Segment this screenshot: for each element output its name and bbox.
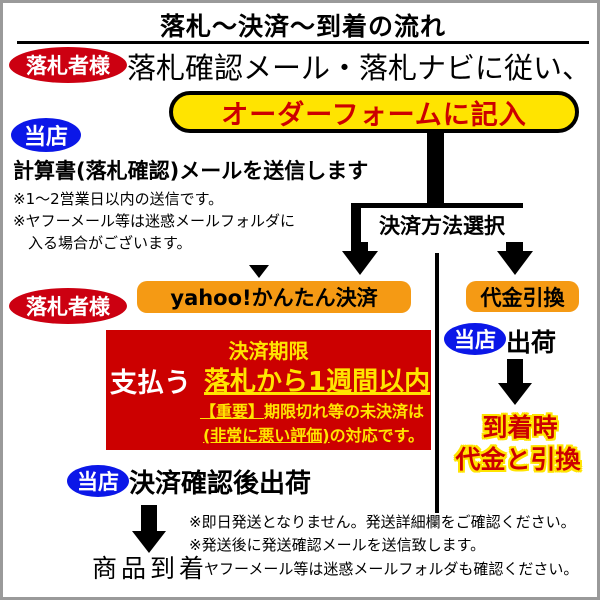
- bottom-notes-list: ※即日発送となりません。発送詳細欄をご確認ください。 ※発送後に発送確認メールを…: [189, 511, 600, 581]
- arrow-down-icon-to-cod-arrival: [498, 383, 532, 405]
- payment-method-select-label: 決済方法選択: [361, 208, 523, 242]
- bad-rating-text: (非常に悪い評価): [203, 426, 330, 445]
- confirm-and-ship-label: 決済確認後出荷: [129, 463, 311, 500]
- badge-shop-step2: 当店: [11, 118, 81, 152]
- option-yahoo-easy-payment[interactable]: yahoo!かんたん決済: [137, 281, 411, 313]
- page-title: 落札～決済～到着の流れ: [3, 7, 600, 43]
- payment-pay-label: 支払う: [110, 361, 191, 400]
- payment-deadline-panel: 決済期限 支払う 落札から1週間以内 【重要】期限切れ等の未決済は (非常に悪い…: [106, 330, 431, 450]
- bottom-note-2: ※発送後に発送確認メールを送信致します。: [189, 534, 600, 557]
- shop-invoice-mail-text: 計算書(落札確認)メールを送信します: [13, 155, 363, 185]
- payment-important-note-line2: (非常に悪い評価)の対応です。: [106, 422, 424, 446]
- arrow-down-icon-right-branch: [497, 251, 533, 275]
- bottom-note-3: ヤフーメール等は迷惑メールフォルダも確認ください。: [189, 558, 600, 581]
- connector-stem-shipping: [507, 359, 523, 385]
- payment-deadline-heading: 決済期限: [106, 335, 431, 364]
- shop-notes-list: ※1～2営業日以内の送信です。 ※ヤフーメール等は迷惑メールフォルダに 入る場合…: [13, 189, 363, 254]
- shop-note-3: 入る場合がございます。: [13, 233, 363, 255]
- cod-arrive-line1: 到着時: [440, 408, 600, 444]
- title-divider-rule: [17, 41, 589, 44]
- connector-stem-arrival: [141, 505, 157, 533]
- shipping-label: 出荷: [506, 323, 556, 359]
- arrow-down-icon-left-branch: [342, 251, 378, 275]
- badge-bidder-payment: 落札者様: [9, 288, 127, 324]
- important-text: 期限切れ等の未決済は: [264, 402, 424, 421]
- bidder-instruction-text: 落札確認メール・落札ナビに従い、: [127, 45, 600, 87]
- shop-note-1: ※1～2営業日以内の送信です。: [13, 189, 363, 211]
- shop-note-2: ※ヤフーメール等は迷惑メールフォルダに: [13, 211, 363, 233]
- badge-shop-shipping: 当店: [444, 323, 506, 355]
- bad-rating-tail: の対応です。: [330, 426, 424, 445]
- arrow-down-icon-to-yahoo: [249, 265, 269, 278]
- option-cash-on-delivery[interactable]: 代金引換: [466, 281, 579, 312]
- badge-shop-confirm-ship: 当店: [67, 465, 129, 497]
- connector-stem-vertical: [427, 133, 444, 203]
- bottom-note-1: ※即日発送となりません。発送詳細欄をご確認ください。: [189, 511, 600, 534]
- payment-deadline-value: 落札から1週間以内: [204, 361, 430, 398]
- important-tag: 【重要】: [200, 402, 264, 421]
- order-form-button[interactable]: オーダーフォームに記入: [169, 91, 579, 133]
- cod-arrive-line2: 代金と引換: [433, 440, 600, 476]
- flowchart-root: 落札～決済～到着の流れ 落札者様 落札確認メール・落札ナビに従い、 オーダーフォ…: [0, 0, 600, 600]
- payment-important-note-line1: 【重要】期限切れ等の未決済は: [106, 398, 424, 422]
- badge-bidder-step1: 落札者様: [9, 47, 127, 83]
